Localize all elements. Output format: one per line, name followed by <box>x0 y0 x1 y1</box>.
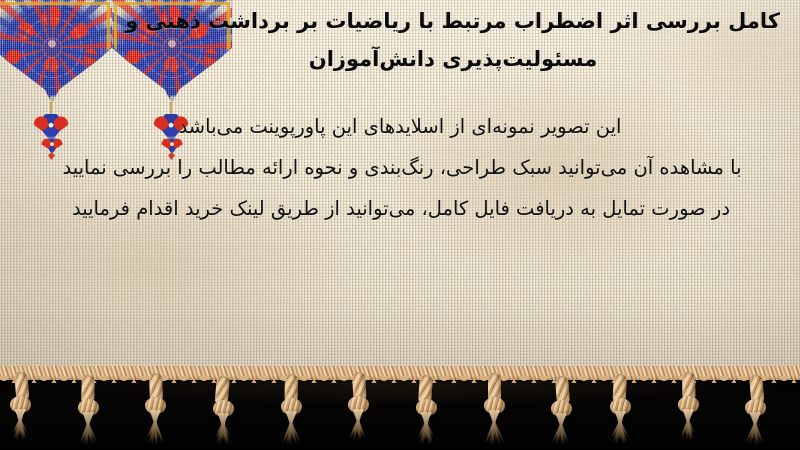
title-line-2: مسئولیت‌پذیری دانش‌آموزان <box>186 40 786 78</box>
tassel <box>277 374 307 448</box>
body-line-2: با مشاهده آن می‌توانید سبک طراحی، رنگ‌بن… <box>0 147 800 188</box>
tassel-strands <box>141 410 171 448</box>
tassel <box>74 375 104 449</box>
title-line-1: کامل بررسی اثر اضطراب مرتبط با ریاضیات ب… <box>186 2 786 40</box>
slide-body: این تصویر نمونه‌ای از اسلایدهای این پاور… <box>0 106 800 229</box>
tassel <box>547 376 577 450</box>
tassel <box>6 372 36 446</box>
body-line-1: این تصویر نمونه‌ای از اسلایدهای این پاور… <box>0 106 800 147</box>
tassel-strands <box>344 409 374 447</box>
tassel-strands <box>277 411 307 449</box>
tassel <box>606 374 636 448</box>
tassel-strands <box>741 412 771 450</box>
tassel <box>344 372 374 446</box>
slide-title: کامل بررسی اثر اضطراب مرتبط با ریاضیات ب… <box>186 2 786 78</box>
tassel-strands <box>6 409 36 447</box>
tassel-strands <box>606 411 636 449</box>
slide-canvas: کامل بررسی اثر اضطراب مرتبط با ریاضیات ب… <box>0 0 800 450</box>
tassel-strands <box>74 412 104 450</box>
tassel-strands <box>412 412 442 450</box>
tassel <box>141 373 171 447</box>
tassel <box>412 375 442 449</box>
tassel <box>741 375 771 449</box>
tassel-strands <box>674 409 704 447</box>
body-line-3: در صورت تمایل به دریافت فایل کامل، می‌تو… <box>0 188 800 229</box>
medallion-head <box>0 0 112 104</box>
tassel-fringe-band <box>0 366 800 450</box>
tassel <box>480 373 510 447</box>
tassel-strands <box>480 410 510 448</box>
tassel-strands <box>547 413 577 450</box>
tassel <box>674 372 704 446</box>
tassel <box>209 376 239 450</box>
tassel-strands <box>209 413 239 450</box>
